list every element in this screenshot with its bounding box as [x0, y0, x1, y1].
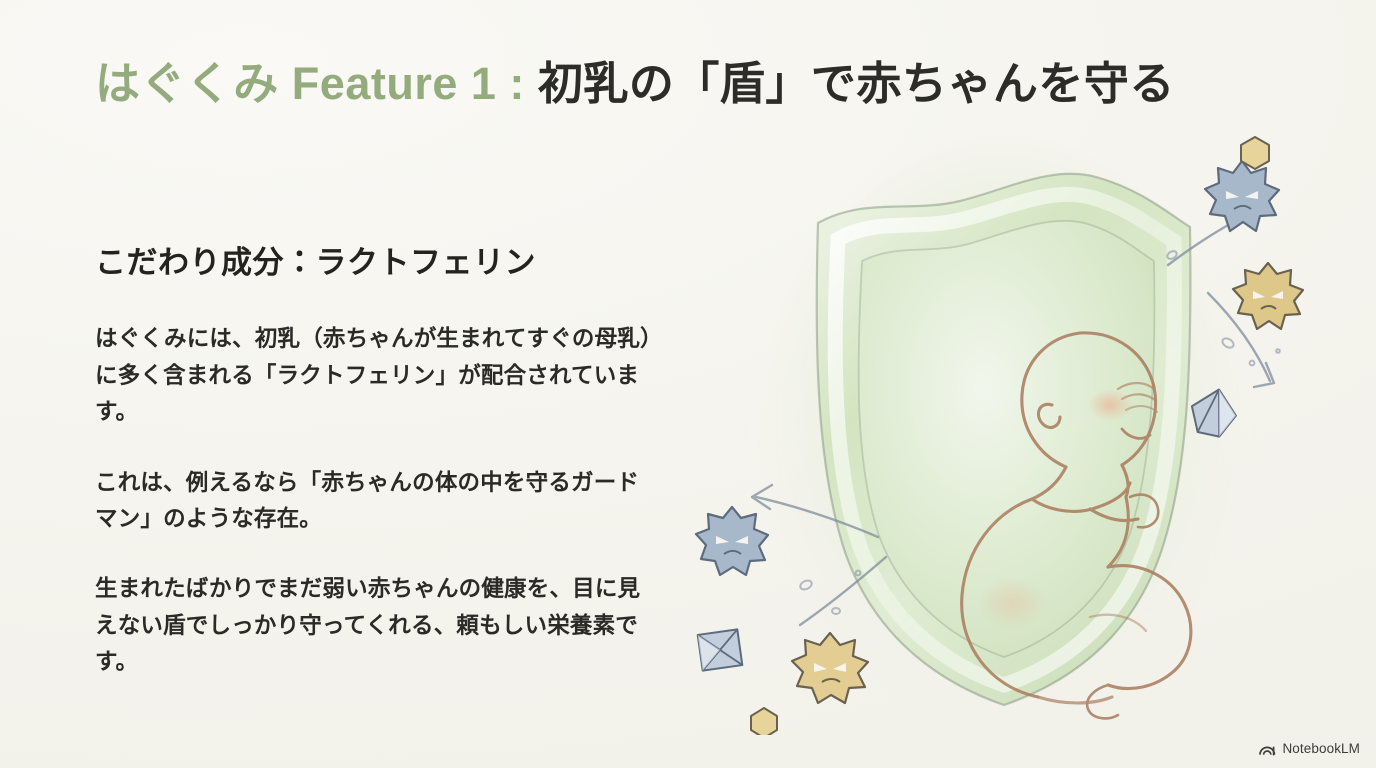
- page-title: はぐくみ Feature 1 : 初乳の「盾」で赤ちゃんを守る: [95, 58, 1225, 110]
- content-paragraph-1: はぐくみには、初乳（赤ちゃんが生まれてすぐの母乳）に多く含まれる「ラクトフェリン…: [95, 321, 655, 430]
- germ-blue-top-right: [1205, 161, 1279, 231]
- slide-canvas: はぐくみ Feature 1 : 初乳の「盾」で赤ちゃんを守る こだわり成分：ラ…: [0, 0, 1376, 768]
- shield-protecting-baby-illustration: [660, 105, 1360, 735]
- content-subheading: こだわり成分：ラクトフェリン: [95, 243, 655, 283]
- title-accent-text: はぐくみ Feature 1 :: [95, 58, 525, 109]
- title-main-text: 初乳の「盾」で赤ちゃんを守る: [538, 58, 1175, 109]
- germ-yellow-top-right: [1233, 263, 1303, 329]
- notebooklm-logo-icon: [1259, 741, 1276, 756]
- content-column: こだわり成分：ラクトフェリン はぐくみには、初乳（赤ちゃんが生まれてすぐの母乳）…: [95, 243, 655, 681]
- hexagon-bottom-left: [751, 708, 777, 735]
- content-paragraph-3: 生まれたばかりでまだ弱い赤ちゃんの健康を、目に見えない盾でしっかり守ってくれる、…: [95, 571, 655, 680]
- germ-blue-bottom-left: [696, 507, 768, 575]
- notebooklm-watermark: NotebookLM: [1259, 741, 1360, 756]
- baby-cheek-blush: [1088, 389, 1132, 421]
- baby-body-blush: [978, 577, 1046, 629]
- content-paragraph-2: これは、例えるなら「赤ちゃんの体の中を守るガードマン」のような存在。: [95, 465, 655, 538]
- notebooklm-label: NotebookLM: [1282, 741, 1360, 756]
- hexagon-top-right: [1241, 137, 1269, 169]
- crystal-bottom-left: [698, 629, 743, 670]
